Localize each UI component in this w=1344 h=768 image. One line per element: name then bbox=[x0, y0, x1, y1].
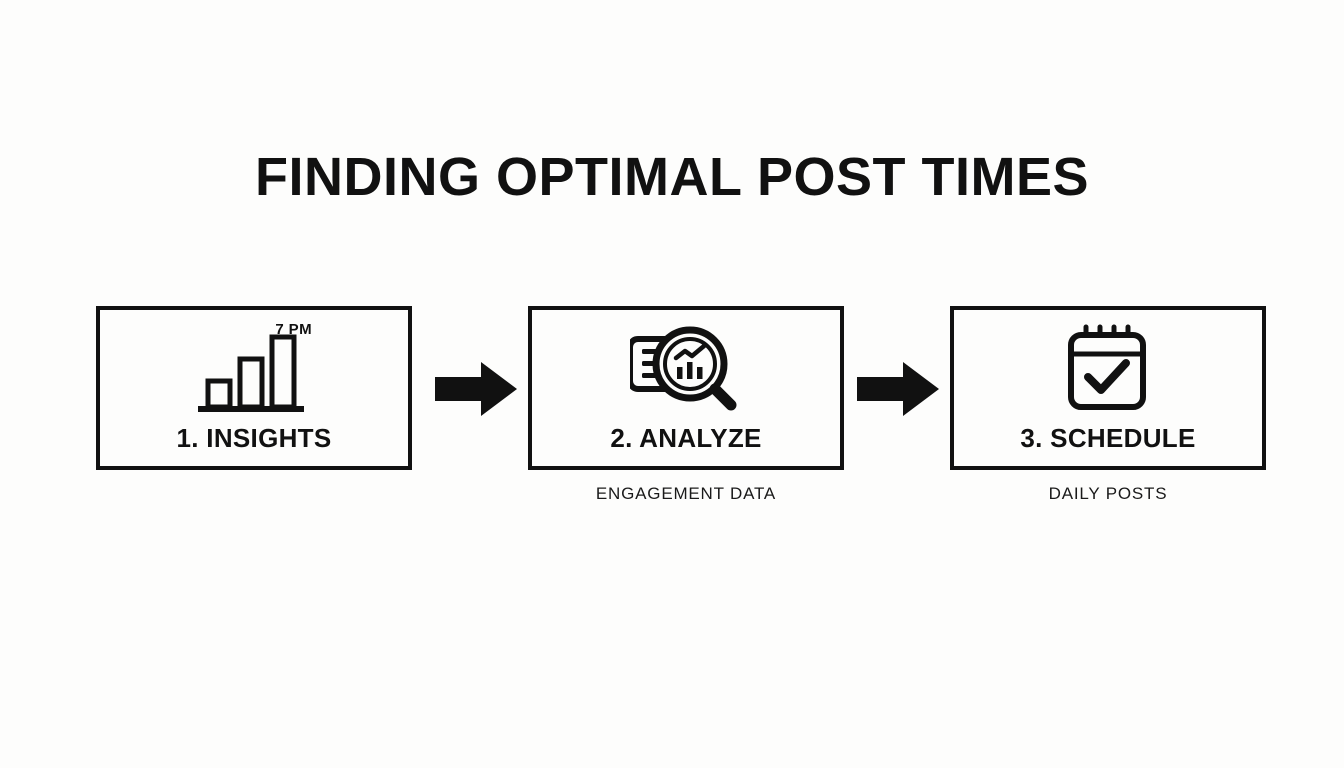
flow-step-schedule[interactable]: 3. SCHEDULE DAILY POSTS bbox=[950, 306, 1266, 470]
bar-chart-icon: 7 PM bbox=[194, 321, 314, 415]
step-card[interactable]: 7 PM 1. INSIGHTS bbox=[96, 306, 412, 470]
step-caption: DAILY POSTS bbox=[950, 484, 1266, 504]
calendar-check-icon bbox=[1062, 321, 1154, 415]
slide-canvas: FINDING OPTIMAL POST TIMES 7 PM bbox=[0, 0, 1344, 768]
step-icon-slot: 7 PM bbox=[100, 320, 408, 416]
arrow-right-glyph bbox=[435, 362, 517, 416]
page-title: FINDING OPTIMAL POST TIMES bbox=[0, 148, 1344, 207]
step-card[interactable]: 2. ANALYZE bbox=[528, 306, 844, 470]
arrow-right-icon bbox=[857, 362, 939, 416]
arrow-right-glyph bbox=[857, 362, 939, 416]
flow-step-analyze[interactable]: 2. ANALYZE ENGAGEMENT DATA bbox=[528, 306, 844, 470]
step-icon-slot bbox=[954, 320, 1262, 416]
arrow-right-icon bbox=[435, 362, 517, 416]
step-caption: ENGAGEMENT DATA bbox=[528, 484, 844, 504]
step-icon-slot bbox=[532, 320, 840, 416]
step-label: 3. SCHEDULE bbox=[954, 423, 1262, 454]
process-flow: 7 PM 1. INSIGHTS bbox=[96, 306, 1266, 516]
step-label: 1. INSIGHTS bbox=[100, 423, 408, 454]
peak-time-badge: 7 PM bbox=[275, 321, 312, 338]
step-card[interactable]: 3. SCHEDULE bbox=[950, 306, 1266, 470]
step-label: 2. ANALYZE bbox=[532, 423, 840, 454]
magnifier-report-icon bbox=[630, 321, 742, 415]
flow-step-insights[interactable]: 7 PM 1. INSIGHTS bbox=[96, 306, 412, 470]
